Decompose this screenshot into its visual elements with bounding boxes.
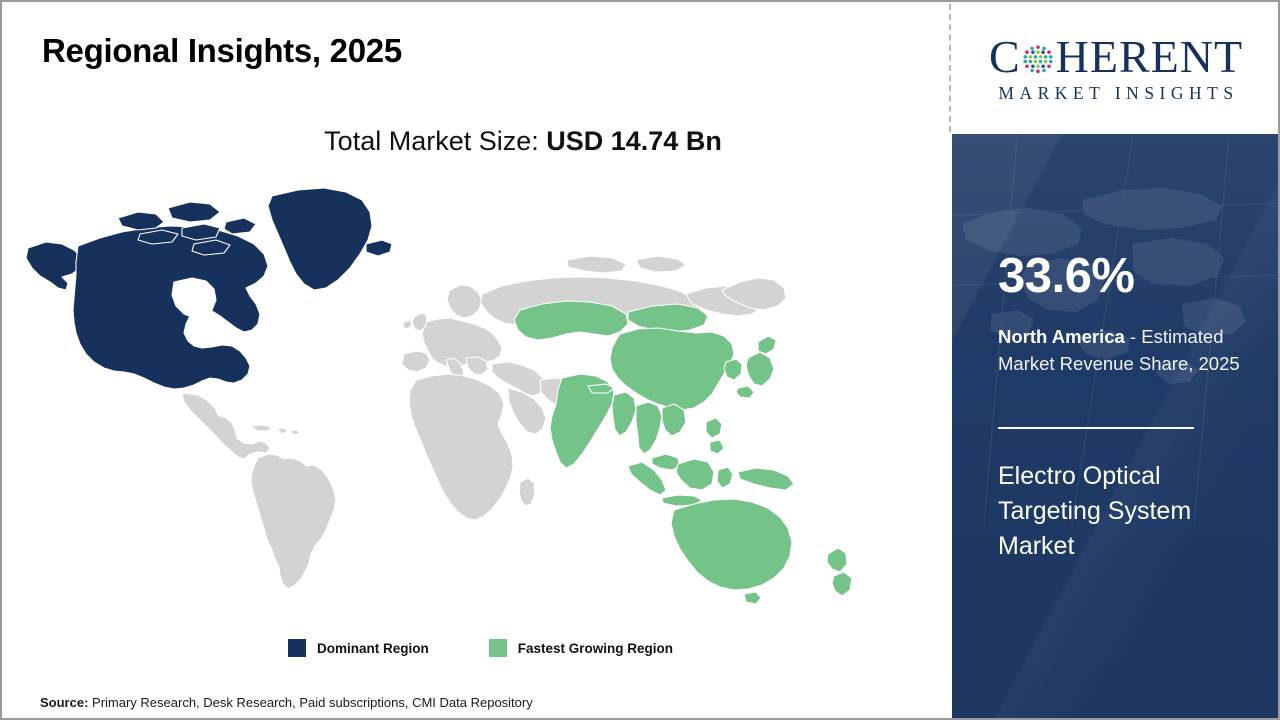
page-title: Regional Insights, 2025 bbox=[42, 32, 402, 70]
logo-letters-herent: HERENT bbox=[1056, 34, 1243, 80]
map-region-fastest bbox=[514, 301, 852, 604]
share-percentage: 33.6% bbox=[998, 252, 1134, 301]
legend-swatch-dominant bbox=[288, 639, 306, 657]
market-size-label: Total Market Size: bbox=[324, 126, 546, 156]
vertical-dashed-divider bbox=[949, 4, 951, 132]
legend-item-dominant: Dominant Region bbox=[288, 639, 429, 657]
legend-item-fastest: Fastest Growing Region bbox=[489, 639, 673, 657]
panel-divider-rule bbox=[998, 427, 1194, 429]
share-description: North America - Estimated Market Revenue… bbox=[998, 324, 1260, 378]
company-logo: C bbox=[952, 2, 1280, 134]
market-name: Electro Optical Targeting System Market bbox=[998, 459, 1243, 564]
map-legend: Dominant Region Fastest Growing Region bbox=[2, 639, 949, 657]
legend-swatch-fastest bbox=[489, 639, 507, 657]
logo-wordmark: C bbox=[989, 33, 1243, 81]
regional-stat-panel: 33.6% North America - Estimated Market R… bbox=[952, 134, 1280, 718]
source-text: Primary Research, Desk Research, Paid su… bbox=[88, 695, 532, 710]
market-size-value: USD 14.74 Bn bbox=[546, 126, 722, 156]
source-label: Source: bbox=[40, 695, 88, 710]
map-region-dominant bbox=[26, 188, 392, 389]
logo-sphere-icon bbox=[1021, 42, 1055, 76]
panel-content: 33.6% North America - Estimated Market R… bbox=[998, 134, 1268, 718]
logo-tagline: MARKET INSIGHTS bbox=[993, 83, 1238, 104]
region-name: North America bbox=[998, 326, 1125, 347]
legend-label-fastest: Fastest Growing Region bbox=[518, 641, 673, 656]
right-sidebar: C bbox=[952, 2, 1280, 718]
left-content-pane: Regional Insights, 2025 Total Market Siz… bbox=[2, 2, 949, 718]
source-note: Source: Primary Research, Desk Research,… bbox=[40, 695, 533, 710]
world-map bbox=[22, 182, 902, 622]
total-market-size: Total Market Size: USD 14.74 Bn bbox=[2, 126, 949, 157]
slide-canvas: Regional Insights, 2025 Total Market Siz… bbox=[0, 0, 1280, 720]
legend-label-dominant: Dominant Region bbox=[317, 641, 429, 656]
logo-letter-c: C bbox=[989, 34, 1021, 80]
